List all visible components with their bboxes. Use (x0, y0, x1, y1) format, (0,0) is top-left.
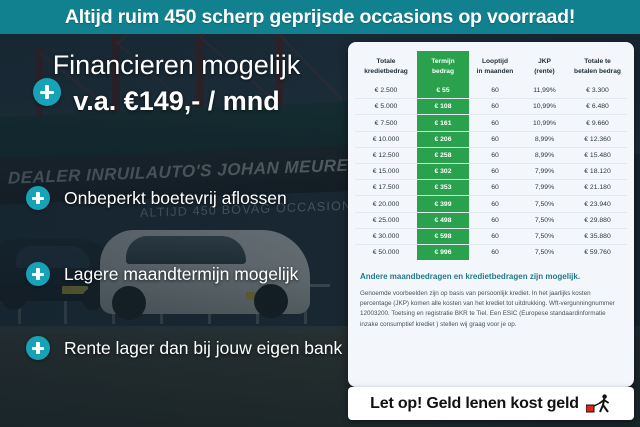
plus-icon (26, 186, 50, 210)
table-row: € 15.000€ 302607,99%€ 18.120 (355, 164, 627, 180)
table-cell: € 353 (417, 180, 469, 196)
table-header-cell: Totale tebetalen bedrag (568, 51, 627, 83)
man-pulling-block-icon (586, 394, 612, 414)
promo-bullet-3-label: Rente lager dan bij jouw eigen bank (64, 338, 342, 359)
table-cell: € 206 (417, 131, 469, 147)
table-cell: € 12.500 (355, 147, 417, 163)
plus-icon (26, 336, 50, 360)
table-cell: 7,50% (521, 212, 568, 228)
promo-bullet-2: Lagere maandtermijn mogelijk (26, 262, 344, 286)
table-cell: 60 (469, 212, 521, 228)
warning-bar-text: Let op! Geld lenen kost geld (370, 395, 579, 413)
table-cell: 60 (469, 164, 521, 180)
table-cell: 7,99% (521, 180, 568, 196)
table-cell: € 498 (417, 212, 469, 228)
table-cell: 7,50% (521, 196, 568, 212)
table-cell: € 55 (417, 83, 469, 99)
table-cell: 7,50% (521, 228, 568, 244)
table-cell: € 35.880 (568, 228, 627, 244)
table-row: € 20.000€ 399607,50%€ 23.940 (355, 196, 627, 212)
table-row: € 50.000€ 996607,50%€ 59.760 (355, 244, 627, 260)
table-header-cell: Termijnbedrag (417, 51, 469, 83)
table-row: € 2.500€ 556011,99%€ 3.300 (355, 83, 627, 99)
rates-table: TotalekredietbedragTermijnbedragLooptijd… (355, 51, 627, 260)
table-cell: € 29.880 (568, 212, 627, 228)
table-cell: € 18.120 (568, 164, 627, 180)
table-cell: € 598 (417, 228, 469, 244)
table-cell: 60 (469, 99, 521, 115)
table-cell: € 20.000 (355, 196, 417, 212)
table-cell: € 108 (417, 99, 469, 115)
table-cell: € 399 (417, 196, 469, 212)
table-cell: € 15.480 (568, 147, 627, 163)
promo-headline-line2: v.a. €149,- / mnd (14, 85, 339, 117)
table-cell: € 9.660 (568, 115, 627, 131)
table-row: € 7.500€ 1616010,99%€ 9.660 (355, 115, 627, 131)
table-cell: € 12.360 (568, 131, 627, 147)
promo-column: Financieren mogelijk v.a. €149,- / mnd O… (0, 34, 345, 427)
table-cell: € 59.760 (568, 244, 627, 260)
table-cell: € 30.000 (355, 228, 417, 244)
table-cell: 60 (469, 115, 521, 131)
table-cell: 10,99% (521, 115, 568, 131)
table-cell: 60 (469, 147, 521, 163)
table-cell: € 302 (417, 164, 469, 180)
table-cell: 8,99% (521, 147, 568, 163)
table-cell: € 21.180 (568, 180, 627, 196)
rates-card: TotalekredietbedragTermijnbedragLooptijd… (348, 42, 634, 387)
table-cell: € 5.000 (355, 99, 417, 115)
table-cell: € 161 (417, 115, 469, 131)
table-header-cell: Looptijdin maanden (469, 51, 521, 83)
card-note-title: Andere maandbedragen en kredietbedragen … (360, 272, 622, 283)
table-cell: € 17.500 (355, 180, 417, 196)
table-cell: 11,99% (521, 83, 568, 99)
table-cell: € 7.500 (355, 115, 417, 131)
table-header-cell: Totalekredietbedrag (355, 51, 417, 83)
table-cell: 60 (469, 83, 521, 99)
table-cell: 60 (469, 196, 521, 212)
table-row: € 5.000€ 1086010,99%€ 6.480 (355, 99, 627, 115)
table-cell: 60 (469, 131, 521, 147)
promo-bullet-1-label: Onbeperkt boetevrij aflossen (64, 188, 287, 209)
table-cell: 60 (469, 228, 521, 244)
table-cell: € 996 (417, 244, 469, 260)
top-banner-text: Altijd ruim 450 scherp geprijsde occasio… (65, 6, 575, 29)
rates-table-head: TotalekredietbedragTermijnbedragLooptijd… (355, 51, 627, 83)
top-banner: Altijd ruim 450 scherp geprijsde occasio… (0, 0, 640, 34)
table-header-cell: JKP(rente) (521, 51, 568, 83)
table-cell: € 15.000 (355, 164, 417, 180)
table-row: € 25.000€ 498607,50%€ 29.880 (355, 212, 627, 228)
table-cell: 7,99% (521, 164, 568, 180)
table-cell: 60 (469, 244, 521, 260)
table-header-row: TotalekredietbedragTermijnbedragLooptijd… (355, 51, 627, 83)
table-cell: € 3.300 (568, 83, 627, 99)
table-cell: 60 (469, 180, 521, 196)
card-note-body: Genoemde voorbeelden zijn op basis van p… (360, 289, 622, 330)
table-cell: € 258 (417, 147, 469, 163)
table-cell: € 6.480 (568, 99, 627, 115)
warning-bar: Let op! Geld lenen kost geld (348, 387, 634, 420)
promo-bullet-3: Rente lager dan bij jouw eigen bank (26, 336, 344, 360)
table-row: € 10.000€ 206608,99%€ 12.360 (355, 131, 627, 147)
table-cell: 8,99% (521, 131, 568, 147)
promo-headline: Financieren mogelijk v.a. €149,- / mnd (14, 50, 339, 117)
table-cell: € 25.000 (355, 212, 417, 228)
rates-table-body: € 2.500€ 556011,99%€ 3.300€ 5.000€ 10860… (355, 83, 627, 260)
table-cell: € 50.000 (355, 244, 417, 260)
plus-icon (26, 262, 50, 286)
table-cell: 7,50% (521, 244, 568, 260)
table-cell: € 10.000 (355, 131, 417, 147)
promo-bullet-2-label: Lagere maandtermijn mogelijk (64, 264, 298, 285)
promo-bullet-1: Onbeperkt boetevrij aflossen (26, 186, 344, 210)
table-row: € 30.000€ 598607,50%€ 35.880 (355, 228, 627, 244)
table-cell: 10,99% (521, 99, 568, 115)
table-row: € 12.500€ 258608,99%€ 15.480 (355, 147, 627, 163)
table-cell: € 23.940 (568, 196, 627, 212)
promo-headline-line1: Financieren mogelijk (14, 50, 339, 81)
table-row: € 17.500€ 353607,99%€ 21.180 (355, 180, 627, 196)
table-cell: € 2.500 (355, 83, 417, 99)
